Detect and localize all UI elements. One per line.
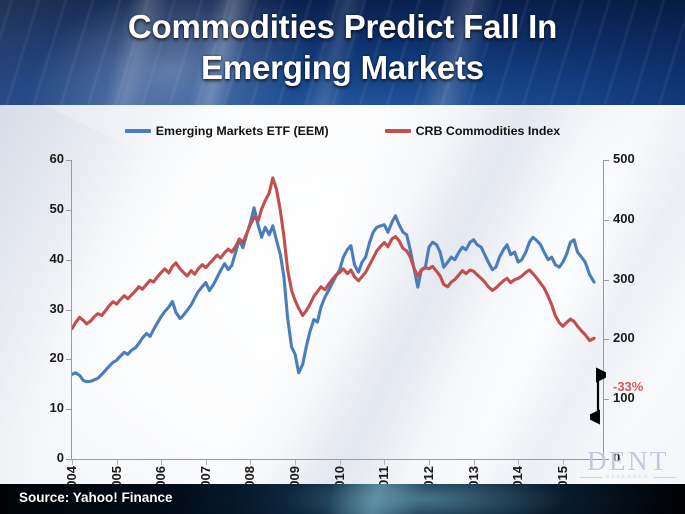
plot-svg bbox=[72, 160, 603, 459]
title-banner: Commodities Predict Fall In Emerging Mar… bbox=[0, 0, 685, 105]
y-tick-left bbox=[66, 160, 71, 161]
y-tick-label-left: 60 bbox=[28, 151, 64, 166]
x-tick bbox=[563, 460, 564, 465]
slide: Commodities Predict Fall In Emerging Mar… bbox=[0, 0, 685, 514]
logo-subtitle-text: RESEARCH bbox=[606, 475, 650, 480]
y-tick-right bbox=[604, 280, 609, 281]
series-line-eem bbox=[72, 208, 594, 382]
y-tick-label-left: 50 bbox=[28, 201, 64, 216]
page-title-line1: Commodities Predict Fall In bbox=[0, 6, 685, 47]
x-tick bbox=[206, 460, 207, 465]
y-tick-left bbox=[66, 210, 71, 211]
y-tick-label-right: 500 bbox=[613, 151, 653, 166]
x-tick bbox=[72, 460, 73, 465]
y-tick-right bbox=[604, 339, 609, 340]
x-tick bbox=[474, 460, 475, 465]
y-tick-right bbox=[604, 220, 609, 221]
x-tick bbox=[117, 460, 118, 465]
dent-research-logo: DENT RESEARCH bbox=[578, 447, 678, 480]
y-tick-label-left: 20 bbox=[28, 350, 64, 365]
y-tick-label-right: 200 bbox=[613, 330, 653, 345]
y-tick-label-left: 10 bbox=[28, 400, 64, 415]
y-tick-left bbox=[66, 310, 71, 311]
y-tick-left bbox=[66, 409, 71, 410]
decline-percent-label: -33% bbox=[613, 379, 643, 394]
y-tick-left bbox=[66, 459, 71, 460]
x-tick bbox=[340, 460, 341, 465]
y-tick-label-left: 40 bbox=[28, 251, 64, 266]
y-tick-label-left: 0 bbox=[28, 450, 64, 465]
x-tick bbox=[250, 460, 251, 465]
line-chart: 0102030405060010020030040050020042005200… bbox=[0, 105, 685, 484]
y-tick-right bbox=[604, 160, 609, 161]
decline-arrow-icon bbox=[590, 367, 606, 427]
y-tick-label-right: 300 bbox=[613, 271, 653, 286]
source-label: Source: Yahoo! Finance bbox=[19, 490, 173, 505]
plot-area bbox=[72, 160, 603, 459]
x-tick bbox=[429, 460, 430, 465]
source-bar: Source: Yahoo! Finance bbox=[0, 484, 685, 514]
page-title: Commodities Predict Fall In Emerging Mar… bbox=[0, 6, 685, 88]
y-tick-label-right: 400 bbox=[613, 211, 653, 226]
logo-wordmark: DENT bbox=[578, 447, 678, 475]
footer-glow bbox=[322, 484, 428, 514]
y-tick-left bbox=[66, 260, 71, 261]
x-tick bbox=[518, 460, 519, 465]
x-tick bbox=[295, 460, 296, 465]
y-tick-left bbox=[66, 359, 71, 360]
y-axis-left-line bbox=[71, 160, 72, 459]
y-tick-label-left: 30 bbox=[28, 301, 64, 316]
x-axis-line bbox=[71, 459, 604, 460]
page-title-line2: Emerging Markets bbox=[0, 47, 685, 88]
x-tick bbox=[161, 460, 162, 465]
x-tick bbox=[384, 460, 385, 465]
